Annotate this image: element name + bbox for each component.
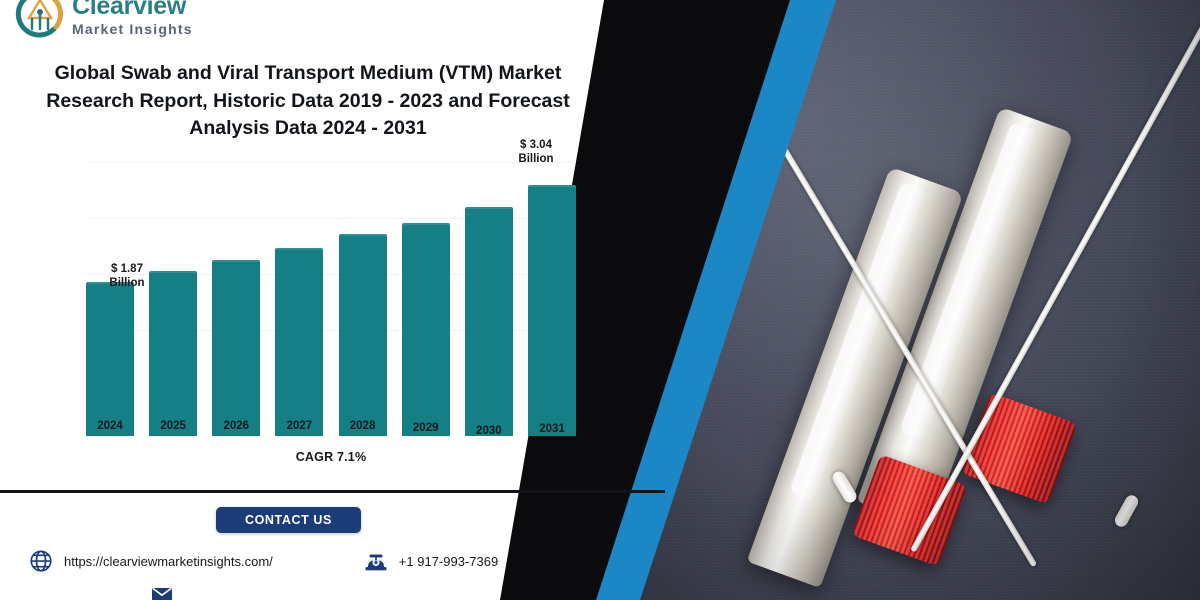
bar-2031 <box>528 185 576 436</box>
chart-bars <box>86 164 576 436</box>
x-tick-2025: 2025 <box>149 420 197 442</box>
bar-2026 <box>212 260 260 436</box>
data-label-first-unit: Billion <box>95 276 159 290</box>
bar-column <box>528 164 576 436</box>
bar-column <box>86 164 134 436</box>
bar-chart <box>86 146 576 436</box>
bar-2025 <box>149 271 197 436</box>
brand-logo[interactable]: Clearview Market Insights <box>14 0 193 40</box>
footer-divider <box>0 490 665 493</box>
bar-2028 <box>339 234 387 436</box>
bar-column <box>339 164 387 436</box>
bar-column <box>212 164 260 436</box>
brand-name: Clearview <box>72 0 193 19</box>
cagr-annotation: CAGR 7.1% <box>86 450 576 464</box>
x-tick-2028: 2028 <box>339 420 387 442</box>
globe-icon <box>28 548 54 574</box>
data-label-first-value: $ 1.87 <box>95 262 159 276</box>
content-area: Clearview Market Insights Global Swab an… <box>0 0 620 600</box>
website-url: https://clearviewmarketinsights.com/ <box>64 554 273 569</box>
marketing-infographic: Clearview Market Insights Global Swab an… <box>0 0 1200 600</box>
x-tick-2030: 2030 <box>465 425 513 447</box>
x-tick-2029: 2029 <box>402 422 450 444</box>
brand-logo-text: Clearview Market Insights <box>72 0 193 36</box>
bar-2029 <box>402 223 450 436</box>
bar-2024 <box>86 282 134 436</box>
x-tick-2024: 2024 <box>86 420 134 442</box>
data-label-last-value: $ 3.04 <box>505 138 567 152</box>
bar-column <box>275 164 323 436</box>
data-label-first: $ 1.87 Billion <box>95 262 159 291</box>
chart-x-axis-labels: 20242025202620272028202920302031 <box>86 420 576 442</box>
contact-details: https://clearviewmarketinsights.com/ +1 … <box>28 548 548 574</box>
envelope-icon <box>150 588 174 600</box>
brand-tagline: Market Insights <box>72 22 193 36</box>
contact-us-button[interactable]: CONTACT US <box>216 507 361 533</box>
bar-column <box>465 164 513 436</box>
data-label-last: $ 3.04 Billion <box>505 138 567 167</box>
email-contact-clipped[interactable] <box>150 588 183 600</box>
bar-2027 <box>275 248 323 436</box>
phone-number: +1 917-993-7369 <box>399 554 498 569</box>
x-tick-2026: 2026 <box>212 420 260 442</box>
page-title: Global Swab and Viral Transport Medium (… <box>18 60 598 143</box>
phone-contact[interactable]: +1 917-993-7369 <box>363 548 498 574</box>
x-tick-2031: 2031 <box>528 423 576 445</box>
telephone-icon <box>363 548 389 574</box>
website-contact[interactable]: https://clearviewmarketinsights.com/ <box>28 548 273 574</box>
data-label-last-unit: Billion <box>505 152 567 166</box>
clearview-globe-logo-icon <box>14 0 66 40</box>
bar-column <box>402 164 450 436</box>
x-tick-2027: 2027 <box>275 420 323 442</box>
bar-2030 <box>465 207 513 436</box>
bar-column <box>149 164 197 436</box>
